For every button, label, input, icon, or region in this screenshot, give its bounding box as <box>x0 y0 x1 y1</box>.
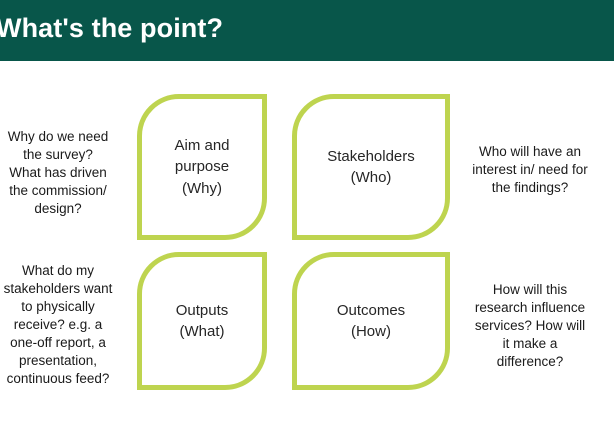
annotation-who-will-have-an-interest: Who will have an interest in/ need for t… <box>455 143 605 197</box>
quadrant-outputs[interactable]: Outputs (What) <box>137 252 267 390</box>
annotation-why-do-we-need-the-survey: Why do we need the survey? What has driv… <box>0 128 128 218</box>
quadrant-label: Outcomes (How) <box>331 300 411 343</box>
annotation-how-will-this-research-influence: How will this research influence service… <box>455 281 605 371</box>
quadrant-aim-and-purpose[interactable]: Aim and purpose (Why) <box>137 94 267 240</box>
quadrant-label: Aim and purpose (Why) <box>168 135 235 199</box>
quadrant-diagram: Aim and purpose (Why) Stakeholders (Who)… <box>137 94 450 390</box>
quadrant-stakeholders[interactable]: Stakeholders (Who) <box>292 94 450 240</box>
header-banner: What's the point? <box>0 0 614 61</box>
quadrant-label: Stakeholders (Who) <box>321 146 421 189</box>
quadrant-outcomes[interactable]: Outcomes (How) <box>292 252 450 390</box>
quadrant-label: Outputs (What) <box>170 300 235 343</box>
annotation-what-do-my-stakeholders-want: What do my stakeholders want to physical… <box>0 262 128 388</box>
slide-root: { "slide": { "title": "What's the point?… <box>0 0 614 426</box>
page-title: What's the point? <box>0 13 223 44</box>
